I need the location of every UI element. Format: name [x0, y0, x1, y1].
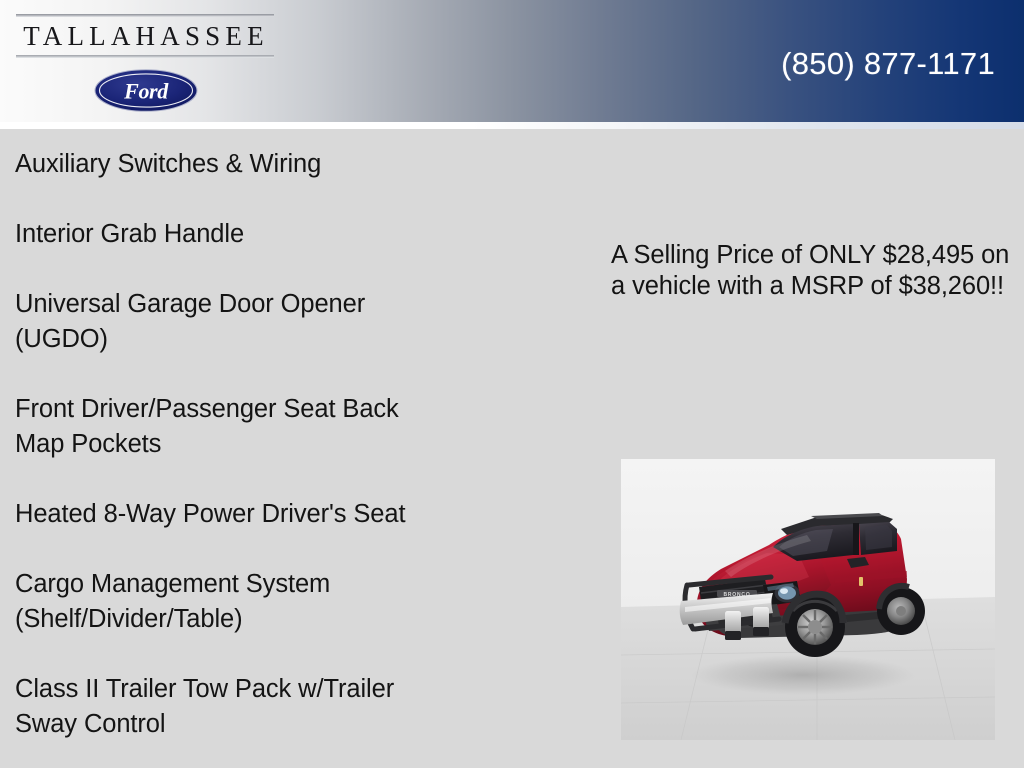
feature-item: Interior Grab Handle — [15, 217, 555, 252]
dealer-logo: TALLAHASSEE — [16, 14, 274, 58]
vehicle-photo: BRONCO — [621, 459, 995, 740]
feature-item: Cargo Management System (Shelf/Divider/T… — [15, 567, 555, 637]
feature-item: Class II Trailer Tow Pack w/Trailer Sway… — [15, 672, 555, 742]
svg-text:Ford: Ford — [123, 79, 169, 104]
dealer-city-name: TALLAHASSEE — [16, 17, 274, 55]
feature-item: Auxiliary Switches & Wiring — [15, 147, 555, 182]
feature-item: Universal Garage Door Opener (UGDO) — [15, 287, 555, 357]
vehicle-feature-list: Auxiliary Switches & Wiring Interior Gra… — [15, 147, 555, 768]
feature-item: Front Driver/Passenger Seat Back Map Poc… — [15, 392, 555, 462]
dealer-header: TALLAHASSEE Ford (850) 877-1171 — [0, 0, 1024, 129]
feature-item: Heated 8-Way Power Driver's Seat — [15, 497, 555, 532]
price-callout-text: A Selling Price of ONLY $28,495 on a veh… — [611, 240, 1011, 302]
flyer-page: TALLAHASSEE Ford (850) 877-1171 A — [0, 0, 1024, 768]
ford-oval-icon: Ford — [94, 69, 198, 112]
header-divider — [0, 122, 1024, 129]
dealer-phone-number[interactable]: (850) 877-1171 — [781, 48, 995, 79]
logo-rule-bottom — [16, 55, 274, 58]
